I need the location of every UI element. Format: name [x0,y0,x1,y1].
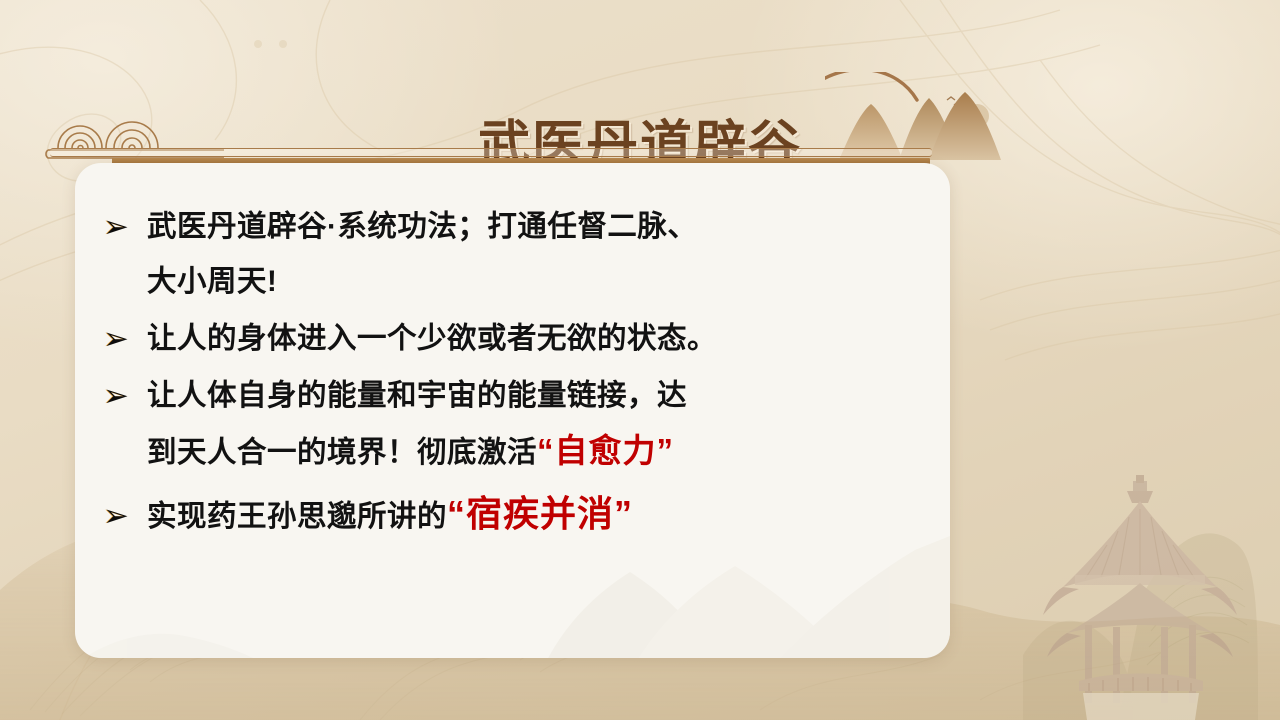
bullet-arrow-icon: ➢ [103,199,147,253]
bullet-line: 让人体自身的能量和宇宙的能量链接，达 [147,379,687,412]
bullet-arrow-icon: ➢ [103,311,147,365]
content-card: ➢ 武医丹道辟谷·系统功法；打通任督二脉、 大小周天! ➢ 让人的身体进入一个少… [75,163,950,658]
list-item: ➢ 让人体自身的能量和宇宙的能量链接，达 到天人合一的境界！彻底激活“自愈力” [103,368,922,480]
bullet-emphasis: “宿疾并消” [447,493,633,534]
slide-header: 武医丹道辟谷 针对重大疾病的核心机理 [0,0,1280,175]
bullet-line: 实现药王孙思邈所讲的 [147,500,447,533]
bullet-arrow-icon: ➢ [103,488,147,542]
bullet-text: 让人体自身的能量和宇宙的能量链接，达 到天人合一的境界！彻底激活“自愈力” [147,368,922,480]
list-item: ➢ 实现药王孙思邈所讲的“宿疾并消” [103,488,922,543]
bullet-line: 大小周天! [147,265,277,298]
bullet-text: 实现药王孙思邈所讲的“宿疾并消” [147,488,922,543]
list-item: ➢ 武医丹道辟谷·系统功法；打通任督二脉、 大小周天! [103,199,922,309]
bullet-list: ➢ 武医丹道辟谷·系统功法；打通任督二脉、 大小周天! ➢ 让人的身体进入一个少… [75,163,950,543]
bullet-emphasis: “自愈力” [537,432,674,469]
bullet-line: 让人的身体进入一个少欲或者无欲的状态。 [147,322,717,355]
bullet-arrow-icon: ➢ [103,368,147,422]
slide-root: 武医丹道辟谷 针对重大疾病的核心机理 [0,0,1280,720]
pavilion-watermark-icon [1023,475,1258,720]
list-item: ➢ 让人的身体进入一个少欲或者无欲的状态。 [103,311,922,366]
bullet-line: 武医丹道辟谷·系统功法；打通任督二脉、 [147,210,697,243]
bullet-line: 到天人合一的境界！彻底激活 [147,436,537,469]
title-rule-thin [50,148,932,157]
bullet-text: 武医丹道辟谷·系统功法；打通任督二脉、 大小周天! [147,199,922,309]
bullet-text: 让人的身体进入一个少欲或者无欲的状态。 [147,311,922,366]
card-mountain-ghost-icon [75,524,950,658]
